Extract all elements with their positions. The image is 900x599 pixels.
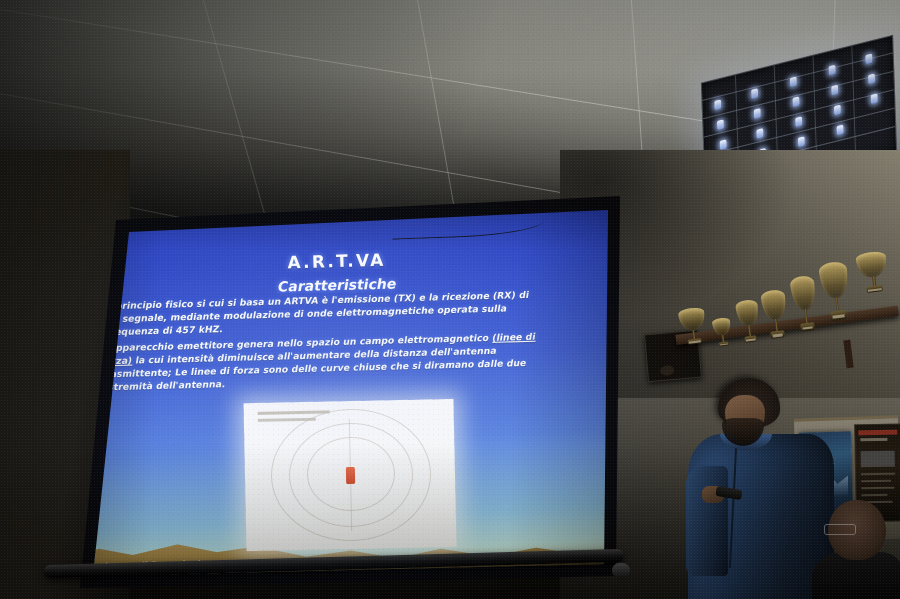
screen-roller-cap — [612, 563, 630, 578]
photo-scene: A.R.T.VA Caratteristiche Il principio fi… — [0, 0, 900, 599]
projection-screen: A.R.T.VA Caratteristiche Il principio fi… — [60, 196, 620, 596]
audience-person — [812, 500, 900, 599]
trophy-icon — [678, 307, 708, 346]
trophy-icon — [855, 250, 890, 293]
speaker-cone-icon — [660, 365, 675, 376]
glasses-icon — [824, 524, 856, 535]
trophy-icon — [712, 317, 733, 347]
slide-vignette — [60, 196, 620, 588]
presenter-arm — [686, 466, 728, 576]
projected-slide: A.R.T.VA Caratteristiche Il principio fi… — [60, 196, 620, 588]
